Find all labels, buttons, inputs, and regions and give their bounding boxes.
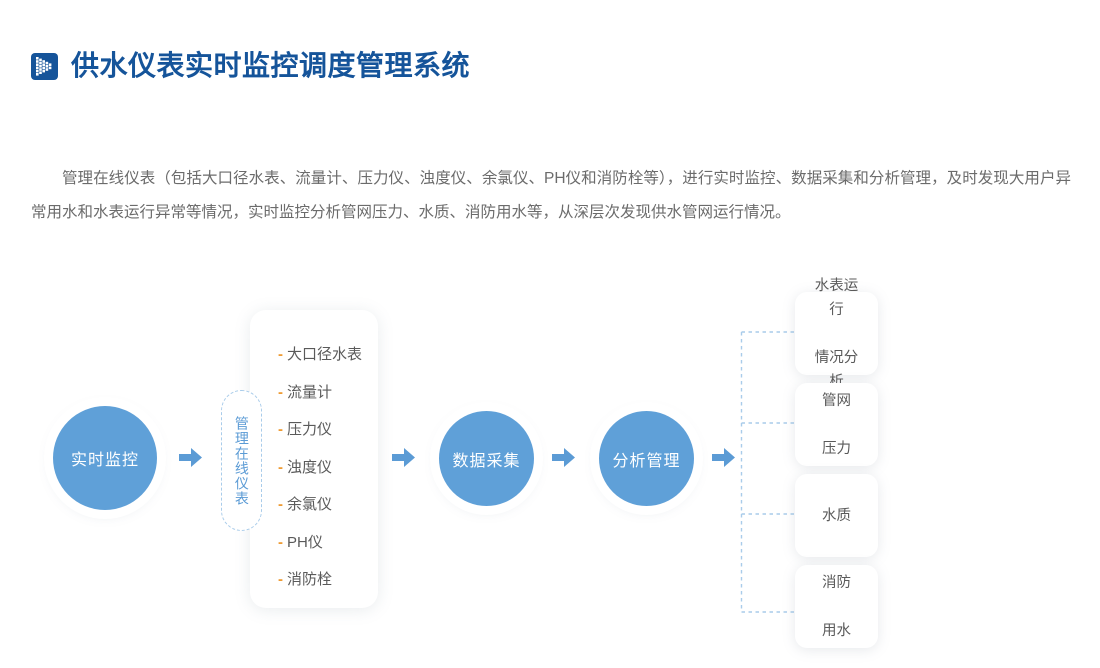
list-item-label: 余氯仪 (287, 496, 332, 513)
list-item: -PH仪 (278, 524, 378, 562)
process-diagram: 实时监控 -大口径水表 -流量计 -压力仪 -浊度仪 -余氯仪 -PH仪 -消防… (0, 0, 1100, 668)
dash-marker: - (278, 384, 283, 401)
result-card-fire-water[interactable]: 消防 用水 (795, 565, 878, 648)
list-item-label: 浊度仪 (287, 459, 332, 476)
pill-label-text: 管理在线仪表 (234, 416, 249, 506)
dash-marker: - (278, 496, 283, 513)
list-item: -浊度仪 (278, 449, 378, 487)
arrow-right-icon (392, 448, 415, 467)
dash-marker: - (278, 421, 283, 438)
list-item-label: 压力仪 (287, 421, 332, 438)
result-line-2: 压力 (814, 437, 859, 461)
result-line-2: 用水 (814, 619, 859, 643)
list-item-label: 流量计 (287, 384, 332, 401)
result-line-1: 水表运行 (803, 274, 870, 322)
dash-marker: - (278, 459, 283, 476)
list-item: -余氯仪 (278, 486, 378, 524)
arrow-right-icon (712, 448, 735, 467)
result-line-1: 水质 (814, 504, 859, 528)
arrow-right-icon (552, 448, 575, 467)
list-item-label: 大口径水表 (287, 346, 362, 363)
result-card-pipe-pressure[interactable]: 管网 压力 (795, 383, 878, 466)
pill-online-instruments: 管理在线仪表 (221, 390, 262, 531)
list-item: -消防栓 (278, 561, 378, 599)
dash-marker: - (278, 346, 283, 363)
node-data-collection[interactable]: 数据采集 (439, 411, 534, 506)
page-root: 供水仪表实时监控调度管理系统 管理在线仪表（包括大口径水表、流量计、压力仪、浊度… (0, 0, 1100, 668)
result-line-1: 管网 (814, 389, 859, 413)
result-card-water-quality[interactable]: 水质 (795, 474, 878, 557)
list-item: -流量计 (278, 374, 378, 412)
instrument-list-card: -大口径水表 -流量计 -压力仪 -浊度仪 -余氯仪 -PH仪 -消防栓 (250, 310, 378, 608)
list-item: -大口径水表 (278, 336, 378, 374)
instrument-list: -大口径水表 -流量计 -压力仪 -浊度仪 -余氯仪 -PH仪 -消防栓 (278, 336, 378, 599)
list-item-label: PH仪 (287, 534, 323, 551)
dash-marker: - (278, 571, 283, 588)
arrow-right-icon (179, 448, 202, 467)
node-analysis-management[interactable]: 分析管理 (599, 411, 694, 506)
result-card-meter-operation[interactable]: 水表运行 情况分析 (795, 292, 878, 375)
list-item: -压力仪 (278, 411, 378, 449)
dash-marker: - (278, 534, 283, 551)
node-realtime-monitoring[interactable]: 实时监控 (53, 406, 157, 510)
result-line-1: 消防 (814, 571, 859, 595)
list-item-label: 消防栓 (287, 571, 332, 588)
